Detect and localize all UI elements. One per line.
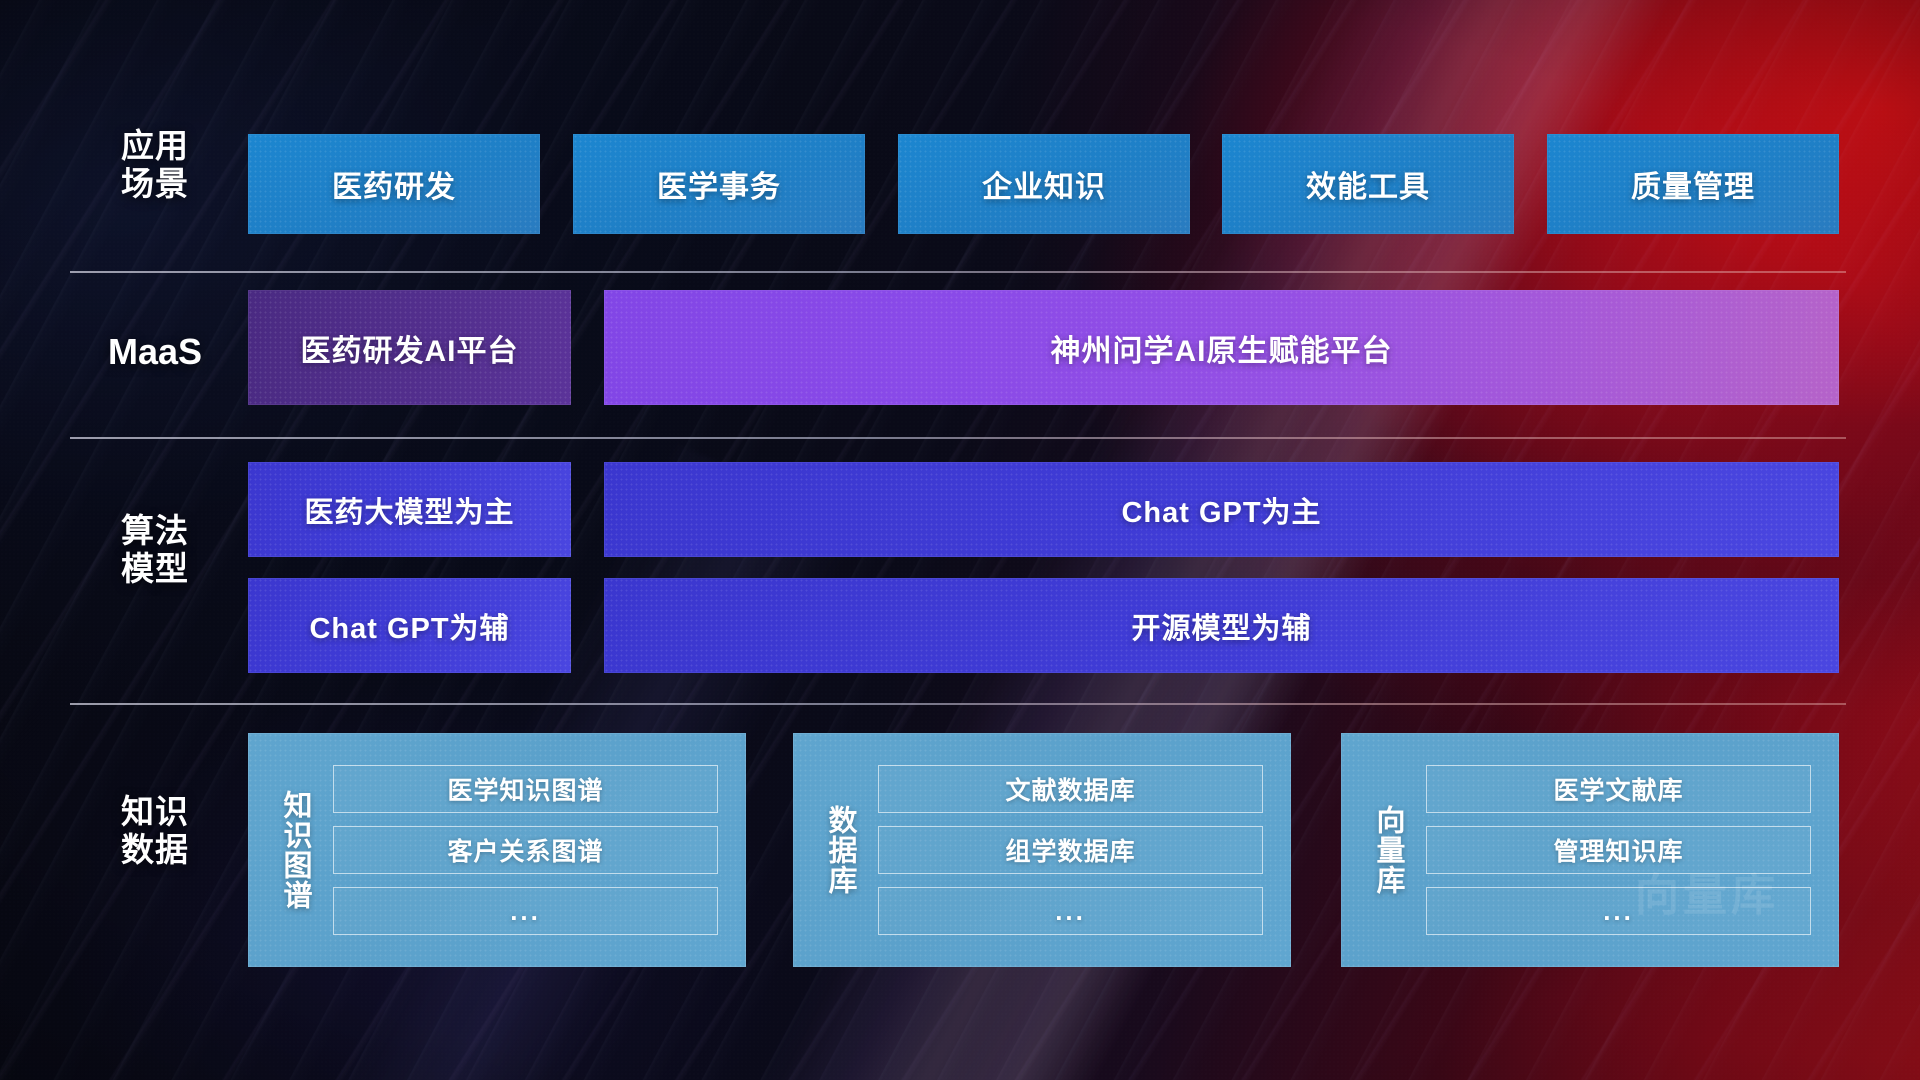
knowledge-item[interactable]: 管理知识库 bbox=[1426, 826, 1811, 874]
knowledge-item[interactable]: 医学文献库 bbox=[1426, 765, 1811, 813]
app-box-zhiliangguanli[interactable]: 质量管理 bbox=[1547, 134, 1839, 234]
algo-box-chatgpt-secondary[interactable]: Chat GPT为辅 bbox=[248, 578, 571, 673]
knowledge-item-list: 医学文献库 管理知识库 ... bbox=[1426, 765, 1839, 935]
divider-algorithm-knowledge bbox=[70, 703, 1846, 705]
app-box-label: 医药研发 bbox=[332, 162, 456, 206]
maas-box-shenzhou-wenxue-platform[interactable]: 神州问学AI原生赋能平台 bbox=[604, 290, 1839, 405]
app-box-label: 医学事务 bbox=[657, 162, 781, 206]
knowledge-item-list: 文献数据库 组学数据库 ... bbox=[878, 765, 1291, 935]
knowledge-item[interactable]: 组学数据库 bbox=[878, 826, 1263, 874]
app-box-yixueshiwu[interactable]: 医学事务 bbox=[573, 134, 865, 234]
divider-maas-algorithm bbox=[70, 437, 1846, 439]
knowledge-item[interactable]: 客户关系图谱 bbox=[333, 826, 718, 874]
divider-application-maas bbox=[70, 271, 1846, 273]
knowledge-panel-title: 数据库 bbox=[823, 805, 856, 895]
app-box-yiyaoyanfa[interactable]: 医药研发 bbox=[248, 134, 540, 234]
knowledge-item-more[interactable]: ... bbox=[878, 887, 1263, 935]
app-box-label: 企业知识 bbox=[982, 162, 1106, 206]
knowledge-item[interactable]: 文献数据库 bbox=[878, 765, 1263, 813]
maas-left-label: 医药研发AI平台 bbox=[301, 326, 519, 370]
knowledge-panel-title: 知识图谱 bbox=[278, 790, 311, 910]
algo-label: Chat GPT为辅 bbox=[309, 605, 509, 647]
algo-box-pharma-large-model-primary[interactable]: 医药大模型为主 bbox=[248, 462, 571, 557]
knowledge-item-list: 医学知识图谱 客户关系图谱 ... bbox=[333, 765, 746, 935]
knowledge-panel-title: 向量库 bbox=[1371, 805, 1404, 895]
knowledge-panel-vector-store[interactable]: 向量库 向量库 医学文献库 管理知识库 ... bbox=[1341, 733, 1839, 967]
algo-label: 医药大模型为主 bbox=[304, 489, 514, 531]
row-label-algorithm: 算法 模型 bbox=[80, 512, 230, 589]
knowledge-panel-knowledge-graph[interactable]: 知识图谱 医学知识图谱 客户关系图谱 ... bbox=[248, 733, 746, 967]
app-box-qiyezhishi[interactable]: 企业知识 bbox=[898, 134, 1190, 234]
diagram-content: 应用 场景 医药研发 医学事务 企业知识 效能工具 质量管理 MaaS 医药研发… bbox=[0, 0, 1920, 1080]
algo-box-chatgpt-primary[interactable]: Chat GPT为主 bbox=[604, 462, 1839, 557]
knowledge-item[interactable]: 医学知识图谱 bbox=[333, 765, 718, 813]
knowledge-panel-database[interactable]: 数据库 文献数据库 组学数据库 ... bbox=[793, 733, 1291, 967]
app-box-xiaonenggongju[interactable]: 效能工具 bbox=[1222, 134, 1514, 234]
maas-right-label: 神州问学AI原生赋能平台 bbox=[1051, 326, 1393, 370]
algo-box-opensource-secondary[interactable]: 开源模型为辅 bbox=[604, 578, 1839, 673]
row-label-knowledge: 知识 数据 bbox=[80, 793, 230, 870]
slide-canvas: 应用 场景 医药研发 医学事务 企业知识 效能工具 质量管理 MaaS 医药研发… bbox=[0, 0, 1920, 1080]
knowledge-item-more[interactable]: ... bbox=[1426, 887, 1811, 935]
maas-box-pharma-ai-platform[interactable]: 医药研发AI平台 bbox=[248, 290, 571, 405]
row-label-application: 应用 场景 bbox=[80, 127, 230, 204]
row-label-maas: MaaS bbox=[80, 331, 230, 373]
algo-label: 开源模型为辅 bbox=[1131, 605, 1311, 647]
algo-label: Chat GPT为主 bbox=[1121, 489, 1321, 531]
app-box-label: 质量管理 bbox=[1631, 162, 1755, 206]
knowledge-item-more[interactable]: ... bbox=[333, 887, 718, 935]
app-box-label: 效能工具 bbox=[1306, 162, 1430, 206]
